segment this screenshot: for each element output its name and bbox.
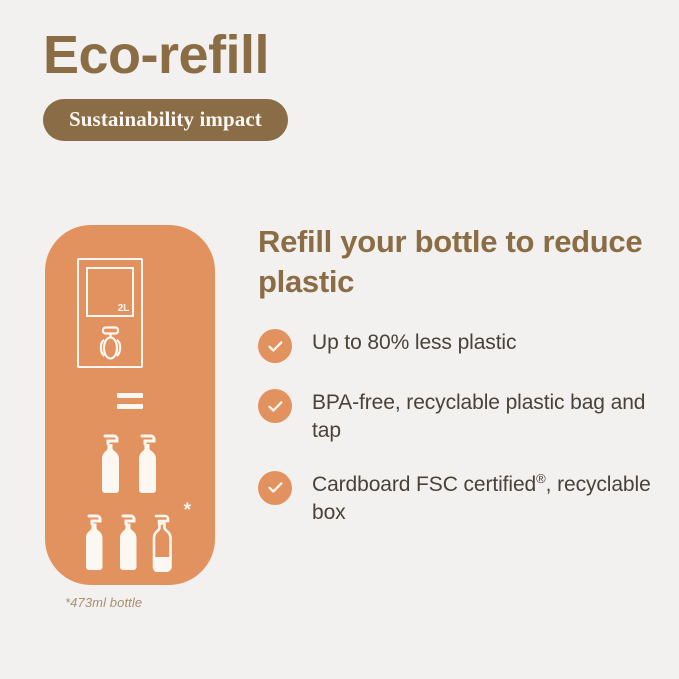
list-item: Cardboard FSC certified®, recyclable box bbox=[258, 469, 658, 526]
equals-bar-top bbox=[117, 393, 143, 398]
page-title: Eco-refill bbox=[43, 26, 643, 84]
check-circle-icon bbox=[258, 389, 292, 423]
benefit-label: Cardboard FSC certified®, recyclable box bbox=[312, 469, 658, 526]
asterisk-marker: * bbox=[184, 501, 191, 520]
bottle-filled bbox=[97, 434, 127, 501]
benefit-label: Up to 80% less plastic bbox=[312, 327, 516, 357]
equals-icon bbox=[117, 393, 143, 409]
carton-volume-label: 2L bbox=[118, 304, 129, 314]
section-headline: Refill your bottle to reduce plastic bbox=[258, 222, 658, 301]
check-circle-icon bbox=[258, 329, 292, 363]
trademark-mark: ® bbox=[536, 471, 546, 486]
equals-bar-bottom bbox=[117, 404, 143, 409]
illustration-panel-wrapper: 2L bbox=[45, 225, 215, 610]
status-badge: Sustainability impact bbox=[43, 99, 288, 141]
benefit-label: BPA-free, recyclable plastic bag and tap bbox=[312, 387, 658, 444]
footnote-bottle-size: *473ml bottle bbox=[65, 595, 215, 610]
list-item: BPA-free, recyclable plastic bag and tap bbox=[258, 387, 658, 444]
benefits-list: Up to 80% less plastic BPA-free, recycla… bbox=[258, 327, 658, 526]
bottle-row-top bbox=[45, 434, 215, 501]
bottle-filled bbox=[82, 514, 110, 577]
bottle-filled bbox=[134, 434, 164, 501]
bottle-row-bottom: * bbox=[45, 514, 215, 577]
content-column: Refill your bottle to reduce plastic Up … bbox=[258, 222, 658, 550]
illustration-panel: 2L bbox=[45, 225, 215, 585]
bottle-outline-referenced: * bbox=[150, 514, 178, 577]
refill-carton-icon: 2L bbox=[77, 258, 143, 368]
carton-window: 2L bbox=[86, 267, 134, 317]
list-item: Up to 80% less plastic bbox=[258, 327, 658, 363]
header: Eco-refill Sustainability impact bbox=[43, 26, 643, 141]
check-circle-icon bbox=[258, 471, 292, 505]
bottle-filled bbox=[116, 514, 144, 577]
tap-icon bbox=[95, 326, 125, 360]
